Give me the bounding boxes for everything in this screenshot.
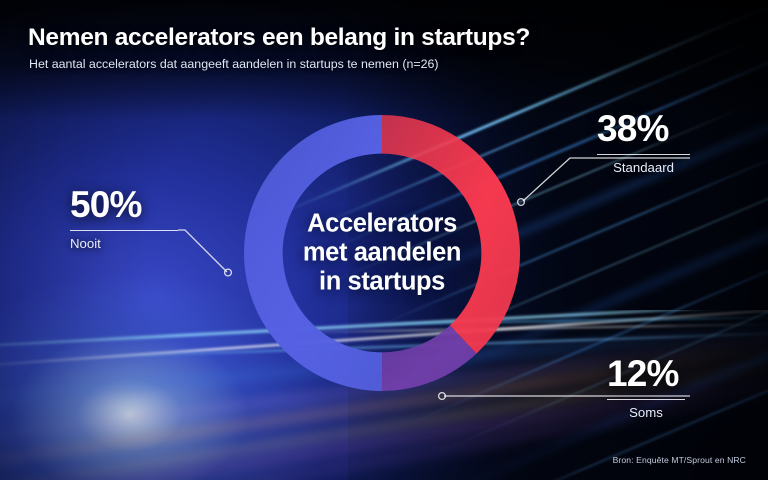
callout-nooit: 50% Nooit [70,186,178,251]
page-subtitle: Het aantal accelerators dat aangeeft aan… [29,57,439,71]
callout-standaard-value: 38% [597,110,690,147]
donut-center-label: Accelerators met aandelen in startups [267,209,497,296]
callout-standaard-rule [597,154,690,155]
callout-standaard: 38% Standaard [597,110,690,175]
callout-soms-value: 12% [607,355,685,392]
center-line-3: in startups [267,268,497,297]
callout-soms: 12% Soms [607,355,685,420]
callout-soms-label: Soms [607,405,685,420]
center-line-1: Accelerators [267,209,497,238]
callout-standaard-label: Standaard [597,160,690,175]
infographic-canvas: Nemen accelerators een belang in startup… [0,0,768,480]
source-attribution: Bron: Enquête MT/Sprout en NRC [613,455,746,465]
callout-nooit-rule [70,230,178,231]
callout-soms-rule [607,399,685,400]
callout-nooit-label: Nooit [70,236,178,251]
page-title: Nemen accelerators een belang in startup… [28,24,530,52]
center-line-2: met aandelen [267,238,497,267]
callout-nooit-value: 50% [70,186,178,223]
